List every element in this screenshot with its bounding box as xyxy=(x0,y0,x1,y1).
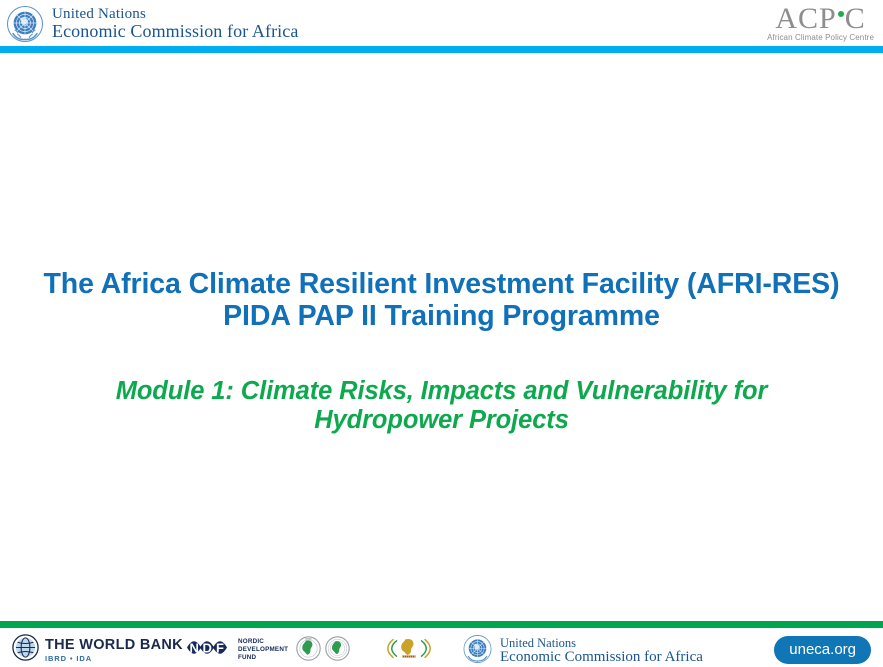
world-bank-sub: IBRD • IDA xyxy=(45,655,183,663)
slide-title: The Africa Climate Resilient Investment … xyxy=(0,268,883,333)
slide-header: United Nations Economic Commission for A… xyxy=(0,0,883,46)
world-bank-name: THE WORLD BANK xyxy=(45,638,183,653)
ndf-line-1: NORDIC xyxy=(238,638,288,646)
acpc-mark-part1: ACP xyxy=(775,2,836,35)
acpc-mark-part2: C xyxy=(845,2,866,35)
un-logo-line-1: United Nations xyxy=(52,7,298,23)
footer-divider-rule xyxy=(0,621,883,628)
svg-text:N: N xyxy=(190,641,199,656)
nepad-logos: NEPAD xyxy=(296,636,350,666)
header-divider-rule xyxy=(0,46,883,53)
title-block: The Africa Climate Resilient Investment … xyxy=(0,268,883,436)
slide-body: The Africa Climate Resilient Investment … xyxy=(0,53,883,618)
svg-text:F: F xyxy=(216,641,224,656)
ndf-line-3: FUND xyxy=(238,654,288,662)
un-emblem-icon xyxy=(5,5,45,43)
acpc-logo-icon: ACPC xyxy=(767,3,874,35)
nepad-africa-emblem-icon: NEPAD xyxy=(296,636,321,666)
world-bank-globe-icon xyxy=(12,634,39,666)
slide-footer: THE WORLD BANK IBRD • IDA N D F xyxy=(0,628,883,667)
world-bank-logo: THE WORLD BANK IBRD • IDA xyxy=(12,634,183,666)
svg-text:NEPAD: NEPAD xyxy=(305,637,313,640)
uneca-footer-line-2: Economic Commission for Africa xyxy=(500,650,703,666)
ndf-logo-icon: N D F xyxy=(185,635,233,665)
uneca-header-logo: United Nations Economic Commission for A… xyxy=(5,5,298,43)
uneca-footer-line-1: United Nations xyxy=(500,637,703,650)
uneca-footer-logo: United Nations Economic Commission for A… xyxy=(462,634,703,667)
african-union-logo xyxy=(380,635,438,667)
slide-subtitle: Module 1: Climate Risks, Impacts and Vul… xyxy=(0,377,883,436)
un-logo-line-2: Economic Commission for Africa xyxy=(52,22,298,41)
ndf-logo: N D F NORDIC DEVELOPMENT FUND xyxy=(185,635,288,665)
african-union-emblem-icon xyxy=(380,649,438,666)
website-link-pill[interactable]: uneca.org xyxy=(774,636,871,664)
svg-text:D: D xyxy=(203,641,212,656)
auda-africa-emblem-icon xyxy=(325,636,350,666)
acpc-logo: ACPC African Climate Policy Centre xyxy=(767,3,874,42)
ndf-line-2: DEVELOPMENT xyxy=(238,646,288,654)
presentation-slide: United Nations Economic Commission for A… xyxy=(0,0,883,667)
un-emblem-icon xyxy=(462,634,493,667)
acpc-green-dot-icon xyxy=(838,11,844,17)
